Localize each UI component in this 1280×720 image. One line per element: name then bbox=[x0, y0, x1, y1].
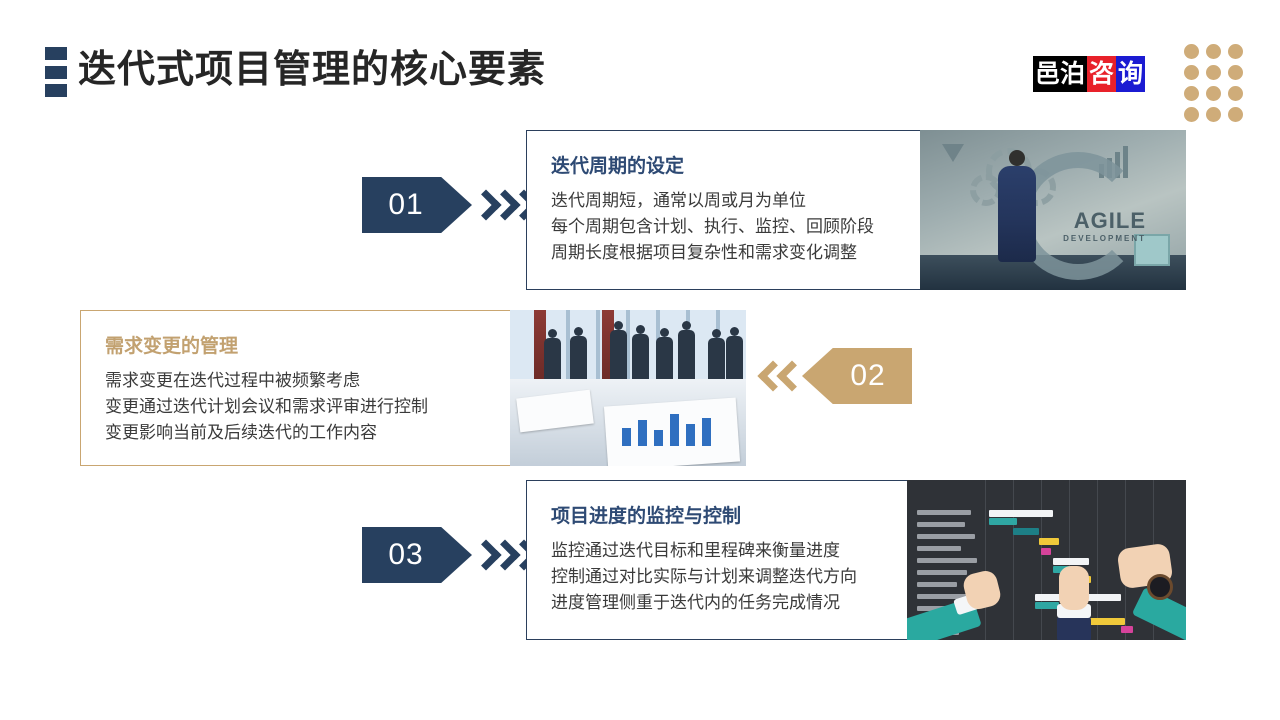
card-02: 需求变更的管理 需求变更在迭代过程中被频繁考虑 变更通过迭代计划会议和需求评审进… bbox=[80, 310, 746, 466]
card-03-title: 项目进度的监控与控制 bbox=[551, 503, 941, 531]
business-meeting-photo bbox=[510, 310, 746, 466]
card-03-line-2: 控制通过对比实际与计划来调整迭代方向 bbox=[551, 564, 941, 590]
slide-header: 迭代式项目管理的核心要素 邑泊 咨 询 bbox=[0, 0, 1280, 120]
card-02-line-2: 变更通过迭代计划会议和需求评审进行控制 bbox=[105, 394, 515, 420]
dot-grid-decoration bbox=[1184, 44, 1250, 122]
card-01-title: 迭代周期的设定 bbox=[551, 153, 941, 181]
logo-blue-text: 询 bbox=[1116, 56, 1145, 92]
step-number-01: 01 bbox=[388, 188, 423, 222]
card-02-line-3: 变更影响当前及后续迭代的工作内容 bbox=[105, 420, 515, 446]
agile-photo-subcaption: DEVELOPMENT bbox=[1063, 234, 1146, 243]
step-badge-01[interactable]: 01 bbox=[362, 177, 472, 233]
card-01-line-3: 周期长度根据项目复杂性和需求变化调整 bbox=[551, 240, 941, 266]
page-title: 迭代式项目管理的核心要素 bbox=[78, 44, 546, 96]
card-03-text: 项目进度的监控与控制 监控通过迭代目标和里程碑来衡量进度 控制通过对比实际与计划… bbox=[527, 481, 941, 616]
card-02-title: 需求变更的管理 bbox=[105, 333, 515, 361]
card-01-text: 迭代周期的设定 迭代周期短，通常以周或月为单位 每个周期包含计划、执行、监控、回… bbox=[527, 131, 941, 266]
slide: 迭代式项目管理的核心要素 邑泊 咨 询 01 迭代周期的设定 迭代周期短，通常以… bbox=[0, 0, 1280, 720]
gantt-chart-photo bbox=[907, 480, 1186, 640]
brand-logo: 邑泊 咨 询 bbox=[1033, 56, 1145, 92]
card-02-line-1: 需求变更在迭代过程中被频繁考虑 bbox=[105, 368, 515, 394]
step-number-02: 02 bbox=[850, 359, 885, 393]
card-03: 项目进度的监控与控制 监控通过迭代目标和里程碑来衡量进度 控制通过对比实际与计划… bbox=[526, 480, 1186, 640]
logo-red-text: 咨 bbox=[1087, 56, 1116, 92]
agile-development-photo: AGILE DEVELOPMENT bbox=[920, 130, 1186, 290]
card-03-line-1: 监控通过迭代目标和里程碑来衡量进度 bbox=[551, 538, 941, 564]
chevron-left-icon-02 bbox=[762, 348, 800, 404]
card-01-line-1: 迭代周期短，通常以周或月为单位 bbox=[551, 188, 941, 214]
step-badge-02[interactable]: 02 bbox=[802, 348, 912, 404]
title-bullet-icon bbox=[45, 47, 67, 97]
step-badge-03[interactable]: 03 bbox=[362, 527, 472, 583]
agile-photo-caption: AGILE bbox=[1074, 208, 1146, 234]
card-03-line-3: 进度管理侧重于迭代内的任务完成情况 bbox=[551, 590, 941, 616]
card-01: 迭代周期的设定 迭代周期短，通常以周或月为单位 每个周期包含计划、执行、监控、回… bbox=[526, 130, 1186, 290]
card-01-line-2: 每个周期包含计划、执行、监控、回顾阶段 bbox=[551, 214, 941, 240]
card-02-text: 需求变更的管理 需求变更在迭代过程中被频繁考虑 变更通过迭代计划会议和需求评审进… bbox=[81, 311, 515, 446]
step-number-03: 03 bbox=[388, 538, 423, 572]
hand-pointer-center-icon bbox=[1059, 566, 1089, 610]
logo-black-text: 邑泊 bbox=[1033, 56, 1087, 92]
